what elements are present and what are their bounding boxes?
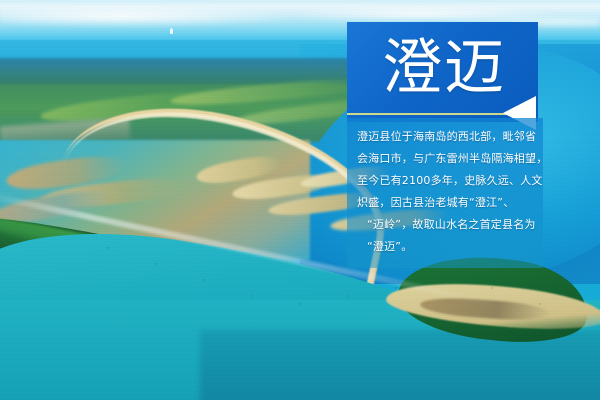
description-line-3: 至今已有2100多年，史脉久远、人文 — [357, 170, 533, 192]
description-line-6: “澄迈”。 — [357, 236, 533, 258]
card-description: 澄迈县位于海南岛的西北部，毗邻省 会海口市，与广东雷州半岛隔海相望， 至今已有2… — [347, 118, 543, 268]
description-line-4: 炽盛，因古县治老城有“澄江”、 — [357, 192, 533, 214]
description-line-1: 澄迈县位于海南岛的西北部，毗邻省 — [357, 126, 533, 148]
title-divider — [347, 113, 507, 115]
description-line-5: “迈岭”，故取山水名之首定县名为 — [357, 214, 533, 236]
description-line-2: 会海口市，与广东雷州半岛隔海相望， — [357, 148, 533, 170]
image-canvas: 澄迈 澄迈县位于海南岛的西北部，毗邻省 会海口市，与广东雷州半岛隔海相望， 至今… — [0, 0, 600, 400]
